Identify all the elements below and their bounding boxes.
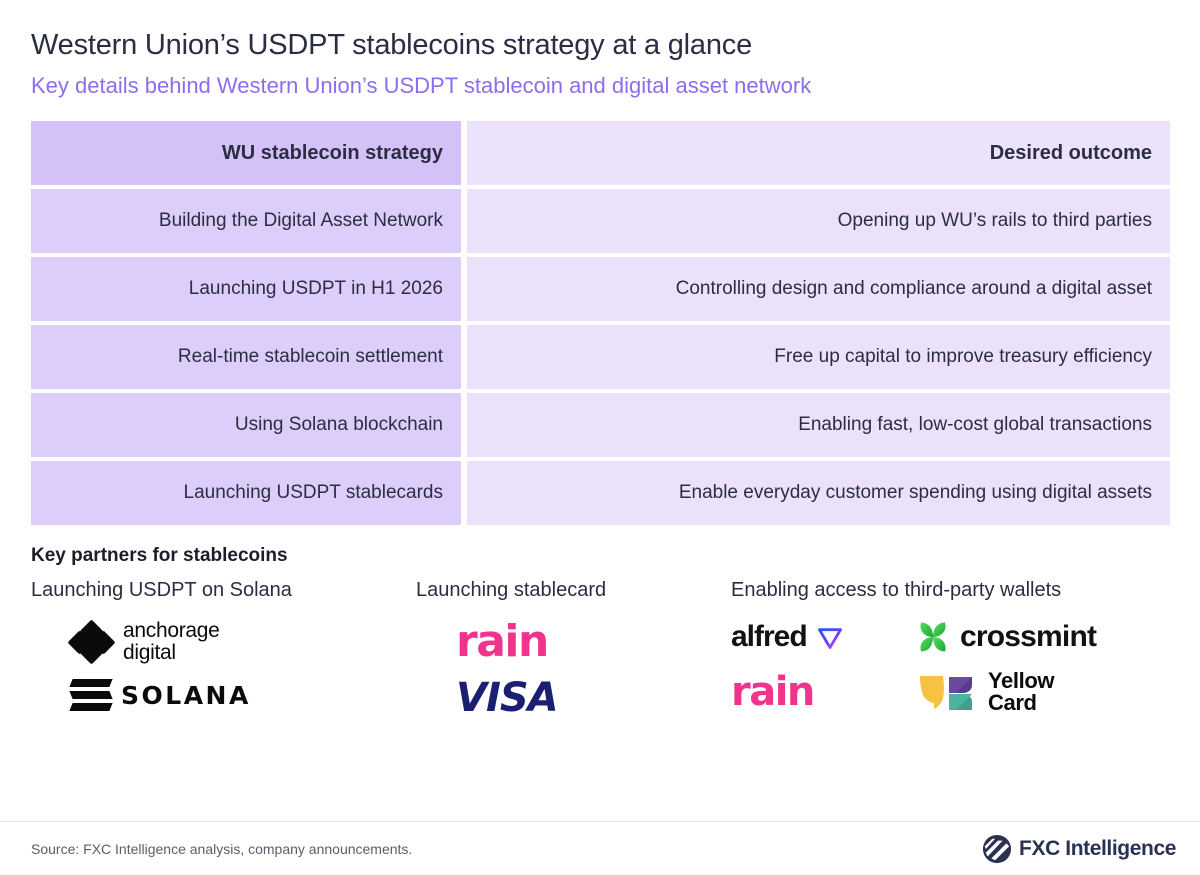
cell-strategy: Launching USDPT in H1 2026: [31, 257, 461, 321]
logo-column-solana: anchorage digital SOLANA: [31, 620, 416, 718]
partner-category-row: Launching USDPT on Solana Launching stab…: [31, 579, 1170, 602]
column-header-strategy: WU stablecoin strategy: [31, 121, 461, 185]
partner-category-solana: Launching USDPT on Solana: [31, 579, 416, 602]
page-title: Western Union’s USDPT stablecoins strate…: [31, 28, 1200, 63]
alfred-send-triangle-icon: [817, 624, 843, 650]
crossmint-wordmark: crossmint: [960, 620, 1096, 654]
solana-wordmark: SOLANA: [121, 681, 251, 710]
cell-outcome: Enabling fast, low-cost global transacti…: [467, 393, 1170, 457]
column-header-outcome: Desired outcome: [467, 121, 1170, 185]
header: Western Union’s USDPT stablecoins strate…: [0, 0, 1200, 99]
logo-crossmint: crossmint: [916, 620, 1126, 654]
table-row: Launching USDPT stablecards Enable every…: [31, 461, 1170, 525]
table-header-row: WU stablecoin strategy Desired outcome: [31, 121, 1170, 185]
logo-rain: rain: [456, 620, 548, 664]
logo-column-stablecard: rain VISA: [416, 620, 731, 718]
yellow-card-wordmark: Yellow Card: [988, 670, 1054, 714]
cell-outcome: Free up capital to improve treasury effi…: [467, 325, 1170, 389]
logo-rain-wallets: rain: [731, 672, 916, 712]
solana-bars-icon: [71, 679, 111, 711]
logo-column-wallets: alfred: [731, 620, 1170, 718]
partners-section: Key partners for stablecoins Launching U…: [31, 545, 1170, 718]
cell-strategy: Real-time stablecoin settlement: [31, 325, 461, 389]
cell-strategy: Launching USDPT stablecards: [31, 461, 461, 525]
cell-strategy: Building the Digital Asset Network: [31, 189, 461, 253]
source-note: Source: FXC Intelligence analysis, compa…: [31, 841, 412, 857]
partner-category-wallets: Enabling access to third-party wallets: [731, 579, 1170, 602]
cell-outcome: Opening up WU’s rails to third parties: [467, 189, 1170, 253]
fxc-globe-icon: [982, 834, 1012, 864]
anchorage-line1: anchorage: [123, 620, 220, 641]
partner-category-stablecard: Launching stablecard: [416, 579, 731, 602]
alfred-wordmark: alfred: [731, 620, 807, 654]
crossmint-petals-icon: [916, 620, 950, 654]
logo-solana: SOLANA: [71, 679, 251, 711]
logo-yellow-card: Yellow Card: [916, 670, 1126, 714]
table-row: Using Solana blockchain Enabling fast, l…: [31, 393, 1170, 457]
fxc-intelligence-logo: FXC Intelligence: [982, 834, 1176, 864]
yellow-card-mark-icon: [916, 672, 978, 712]
table-row: Launching USDPT in H1 2026 Controlling d…: [31, 257, 1170, 321]
anchorage-diamonds-icon: [71, 623, 113, 661]
strategy-table: WU stablecoin strategy Desired outcome B…: [31, 121, 1170, 525]
logo-visa: VISA: [456, 678, 558, 718]
table-row: Building the Digital Asset Network Openi…: [31, 189, 1170, 253]
footer: Source: FXC Intelligence analysis, compa…: [0, 821, 1200, 875]
yellow-card-line1: Yellow: [988, 670, 1054, 692]
fxc-brand-name: FXC Intelligence: [1019, 837, 1176, 861]
anchorage-line2: digital: [123, 642, 220, 663]
cell-strategy: Using Solana blockchain: [31, 393, 461, 457]
infographic-page: Western Union’s USDPT stablecoins strate…: [0, 0, 1200, 875]
anchorage-wordmark: anchorage digital: [123, 620, 220, 663]
logo-alfred: alfred: [731, 620, 916, 654]
cell-outcome: Controlling design and compliance around…: [467, 257, 1170, 321]
yellow-card-line2: Card: [988, 692, 1054, 714]
table-row: Real-time stablecoin settlement Free up …: [31, 325, 1170, 389]
partners-title: Key partners for stablecoins: [31, 545, 1170, 567]
partner-logos: anchorage digital SOLANA rain VISA: [31, 620, 1170, 718]
logo-anchorage-digital: anchorage digital: [71, 620, 220, 663]
page-subtitle: Key details behind Western Union’s USDPT…: [31, 72, 1200, 100]
wallet-logo-grid: alfred: [731, 620, 1170, 714]
cell-outcome: Enable everyday customer spending using …: [467, 461, 1170, 525]
